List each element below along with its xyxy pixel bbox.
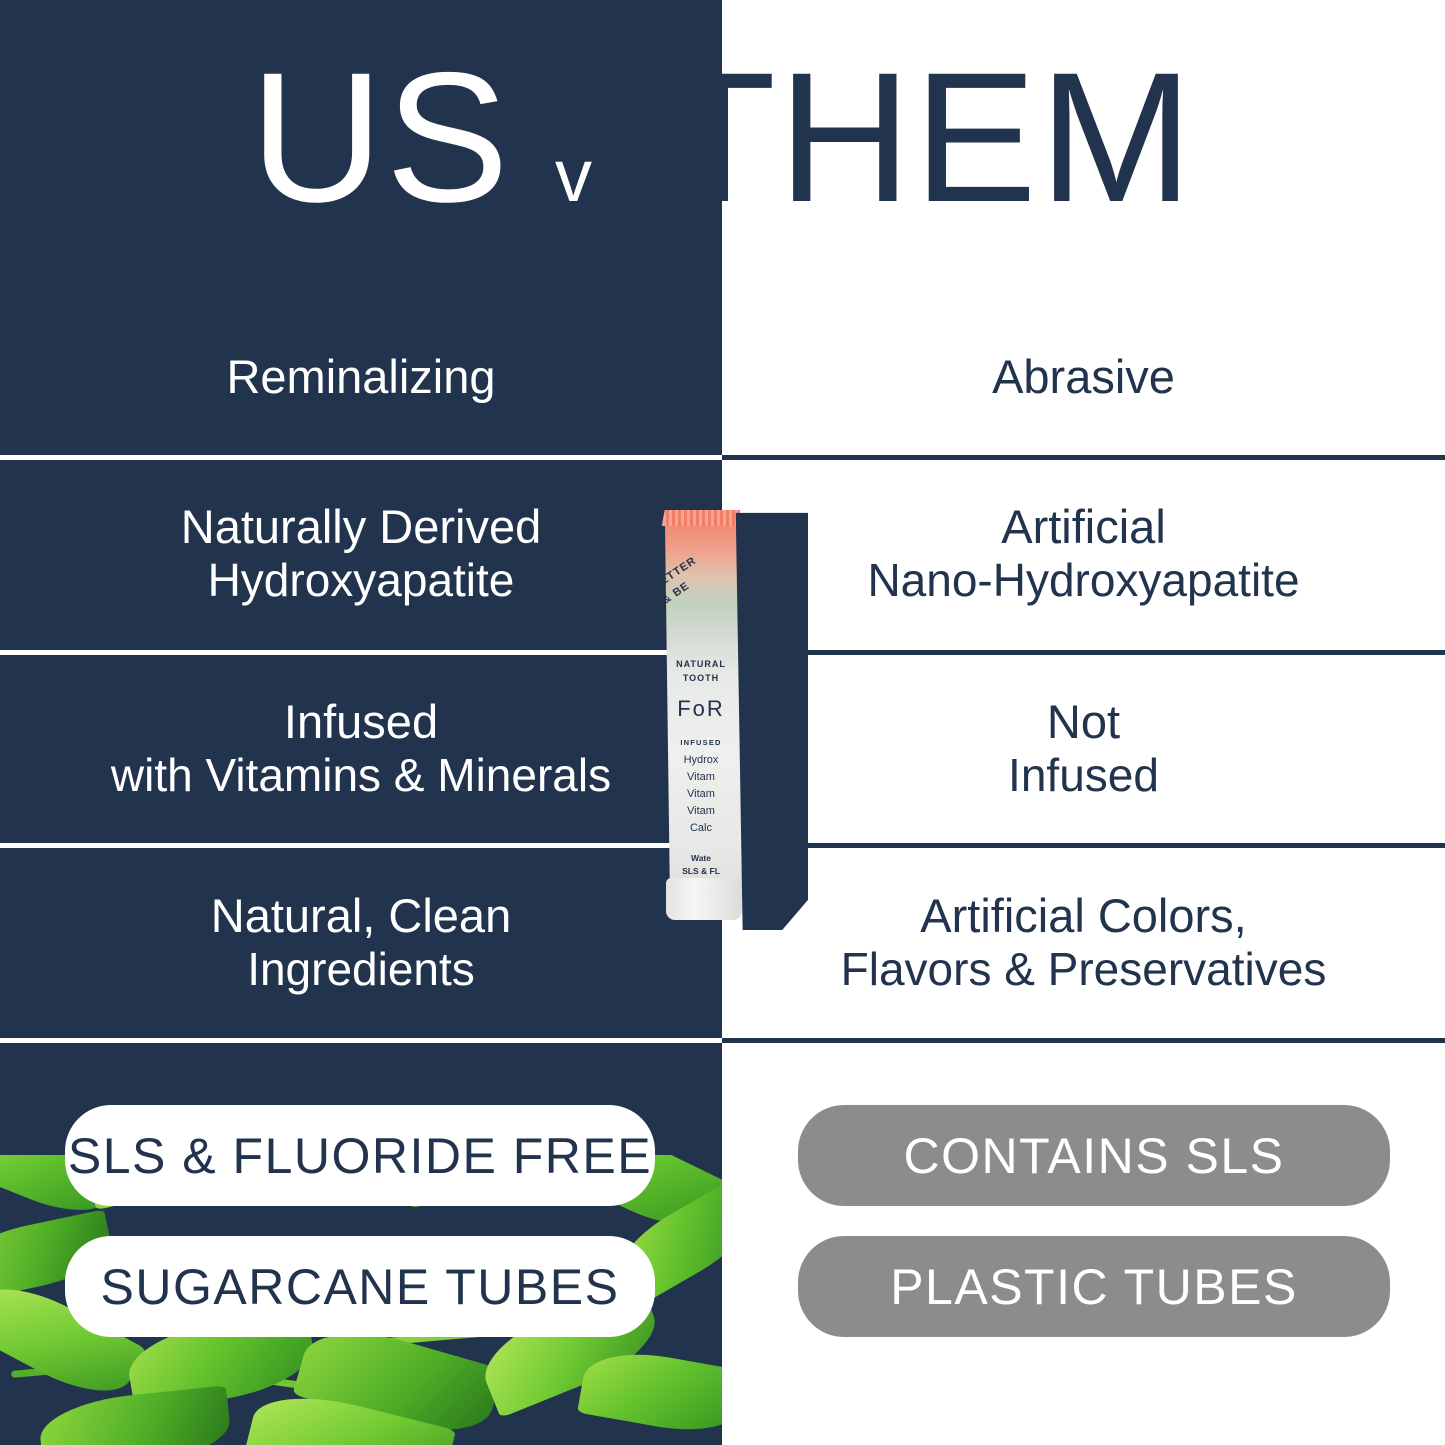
badge-sls-fluoride-free[interactable]: SLS & FLUORIDE FREE bbox=[65, 1105, 655, 1206]
row-2-left-sub: Hydroxyapatite bbox=[208, 555, 515, 606]
badge-sugarcane-tubes[interactable]: SUGARCANE TUBES bbox=[65, 1236, 655, 1337]
row-1-right-cell: Abrasive bbox=[722, 300, 1445, 453]
badge-contains-sls[interactable]: CONTAINS SLS bbox=[798, 1105, 1390, 1206]
badge-label: PLASTIC TUBES bbox=[890, 1258, 1298, 1316]
tube-category-line-2: TOOTH bbox=[658, 672, 744, 686]
poster-header: US vs vs THEM bbox=[0, 0, 1445, 300]
tube-cap bbox=[666, 878, 742, 920]
tube-footer-text: Wate SLS & FL bbox=[658, 852, 744, 878]
tube-footer-line-2: SLS & FL bbox=[658, 865, 744, 878]
row-3-left-sub: with Vitamins & Minerals bbox=[111, 750, 611, 801]
toothpaste-tube-icon: BETTER & BE NATURAL TOOTH FoR INFUSED Hy… bbox=[648, 500, 808, 930]
tube-crimp-seal bbox=[660, 510, 740, 526]
row-4-left-sub: Ingredients bbox=[247, 944, 475, 995]
header-vs-text: vs bbox=[555, 134, 629, 217]
badges-section: SLS & FLUORIDE FREE SUGARCANE TUBES CONT… bbox=[0, 1043, 1445, 1445]
row-3-right-cell: Not Infused bbox=[722, 655, 1445, 843]
row-1-right-main: Abrasive bbox=[992, 352, 1175, 402]
badge-label: CONTAINS SLS bbox=[903, 1127, 1284, 1185]
row-2-left-main: Naturally Derived bbox=[181, 502, 541, 552]
row-4-right-main: Artificial Colors, bbox=[920, 891, 1246, 941]
tube-infused-label: INFUSED bbox=[658, 738, 744, 747]
row-4-right-cell: Artificial Colors, Flavors & Preservativ… bbox=[722, 848, 1445, 1038]
row-2-right-main: Artificial bbox=[1001, 502, 1166, 552]
row-2-right-cell: Artificial Nano-Hydroxyapatite bbox=[722, 460, 1445, 648]
header-us-label: US bbox=[250, 46, 511, 231]
row-3-right-sub: Infused bbox=[1008, 750, 1159, 801]
row-2-right-sub: Nano-Hydroxyapatite bbox=[867, 555, 1299, 606]
row-4-right-sub: Flavors & Preservatives bbox=[841, 944, 1327, 995]
row-2-left-cell: Naturally Derived Hydroxyapatite bbox=[0, 460, 722, 648]
tube-category-line-1: NATURAL bbox=[658, 658, 744, 672]
row-1-left-cell: Reminalizing bbox=[0, 300, 722, 453]
header-them-label: THEM bbox=[663, 46, 1195, 231]
badge-label: SLS & FLUORIDE FREE bbox=[68, 1127, 652, 1185]
comparison-row: Reminalizing Abrasive bbox=[0, 300, 1445, 453]
tube-footer-line-1: Wate bbox=[658, 852, 744, 865]
row-3-left-main: Infused bbox=[284, 697, 438, 747]
badge-plastic-tubes[interactable]: PLASTIC TUBES bbox=[798, 1236, 1390, 1337]
row-4-left-main: Natural, Clean bbox=[211, 891, 511, 941]
row-3-left-cell: Infused with Vitamins & Minerals bbox=[0, 655, 722, 843]
us-vs-them-comparison-poster: US vs vs THEM Reminalizing Abrasive Natu… bbox=[0, 0, 1445, 1445]
header-vs-label: vs vs bbox=[555, 139, 629, 213]
tube-category-text: NATURAL TOOTH bbox=[658, 658, 744, 685]
row-4-left-cell: Natural, Clean Ingredients bbox=[0, 848, 722, 1038]
tube-ingredients-list: Hydrox Vitam Vitam Vitam Calc bbox=[658, 752, 744, 837]
row-3-right-main: Not bbox=[1047, 697, 1120, 747]
tube-product-name: FoR bbox=[658, 696, 744, 722]
badge-label: SUGARCANE TUBES bbox=[101, 1258, 620, 1316]
row-1-left-main: Reminalizing bbox=[226, 352, 495, 402]
